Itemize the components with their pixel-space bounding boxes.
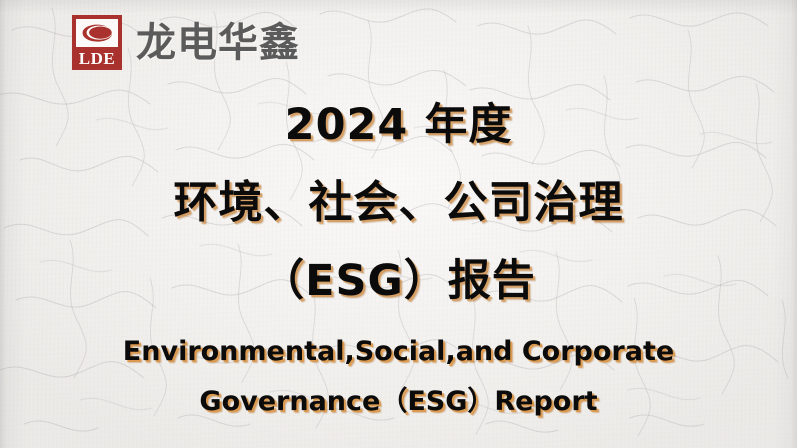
subtitle-line-1: Environmental,Social,and Corporate: [0, 327, 797, 377]
logo-mark-text: LDE: [72, 49, 122, 68]
title-line-year: 2024 年度: [0, 86, 797, 164]
title-line-report-cn: （ESG）报告: [0, 242, 797, 320]
logo-mark-panel: [76, 19, 118, 47]
subtitle-line-2: Governance（ESG）Report: [0, 377, 797, 427]
title-line-esg-cn: 环境、社会、公司治理: [0, 164, 797, 242]
brand-logo-lockup: LDE 龙电华鑫: [72, 15, 300, 70]
report-subtitle: Environmental,Social,and Corporate Gover…: [0, 327, 797, 427]
brand-wordmark: 龙电华鑫: [136, 21, 300, 65]
report-title: 2024 年度 环境、社会、公司治理 （ESG）报告: [0, 86, 797, 320]
report-cover-slide: LDE 龙电华鑫 2024 年度 环境、社会、公司治理 （ESG）报告 Envi…: [0, 0, 797, 448]
lde-logo-mark: LDE: [72, 15, 122, 70]
swoosh-ellipse-icon: [81, 24, 113, 42]
